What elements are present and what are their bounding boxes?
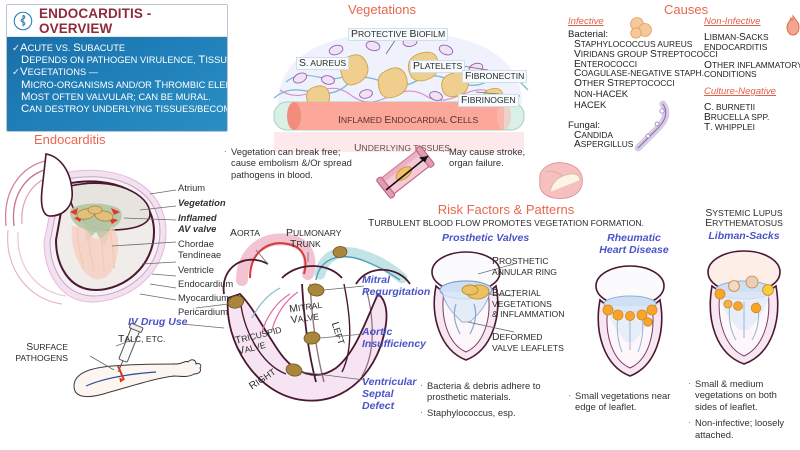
label-mitral-valve: MITRALVALVE	[289, 300, 325, 326]
banner-line: DEPENDS ON PATHOGEN VIRULENCE, TISSUE HE…	[12, 54, 221, 66]
bullet-dot: ·	[224, 146, 227, 180]
banner-line: ✓VEGETATIONS —	[12, 66, 221, 78]
label-chordae: Chordae	[178, 238, 214, 249]
callout-deformed-valve-leaflets: DEFORMEDVALVE LEAFLETS	[492, 332, 568, 353]
causes-culture-negative-column: Culture-Negative C. BURNETII BRUCELLA SP…	[704, 86, 796, 132]
page-title: ENDOCARDITIS - OVERVIEW	[39, 6, 227, 36]
bullet-dot: ·	[688, 378, 691, 412]
panel-rheumatic-heart-disease: Rheumatic Heart Disease ·	[572, 232, 696, 442]
label-surface-pathogens: SURFACEPATHOGENS	[8, 342, 68, 363]
causes-culture-negative-heading: Culture-Negative	[704, 86, 796, 97]
panel-heading-prosthetic-valves: Prosthetic Valves	[442, 232, 552, 244]
flame-icon	[784, 15, 800, 37]
bullet-item: · Staphylococcus, esp.	[420, 407, 564, 418]
banner-title-bar: ENDOCARDITIS - OVERVIEW	[7, 5, 227, 37]
cause-item: ENDOCARDITIS	[704, 43, 796, 53]
label-pulmonary-trunk: PULMONARY	[286, 228, 342, 239]
banner-body: ✓ACUTE VS. SUBACUTE DEPENDS ON PATHOGEN …	[7, 37, 227, 132]
causes-noninfective-column: Non-Infective LIBMAN-SACKS ENDOCARDITIS …	[704, 16, 796, 80]
overview-banner: ENDOCARDITIS - OVERVIEW ✓ACUTE VS. SUBAC…	[6, 4, 228, 132]
label-tendineae: Tendineae	[178, 249, 221, 260]
bullet-item: · Bacteria & debris adhere to prosthetic…	[420, 380, 564, 403]
label-vegetation: Vegetation	[178, 197, 226, 208]
banner-line: CAN DESTROY UNDERLYING TISSUES/BECOME EM…	[12, 103, 221, 115]
brain-icon	[530, 158, 586, 202]
embolism-bullet-2: · May cause stroke, organ failure.	[442, 146, 534, 169]
label-ventricle: Ventricle	[178, 264, 214, 275]
label-fibrinogen: FIBRINOGEN	[458, 94, 519, 107]
callout-prosthetic-annular-ring: PROSTHETICANNULAR RING	[492, 256, 568, 277]
endocarditis-diagram-title: Endocarditis	[34, 132, 106, 147]
staphylococcus-cocci-icon	[628, 16, 654, 42]
panel-bullets-rheumatic: · Small vegetations near edge of leaflet…	[568, 390, 688, 413]
causes-section: Causes Infective Bacterial: STAPHYLOCOCC…	[566, 2, 800, 192]
vegetations-section: Vegetations	[240, 2, 560, 144]
embolism-section: · Vegetation can break free; cause embol…	[224, 146, 564, 202]
panel-heading-sle-line2: ERYTHEMATOSUS	[688, 218, 800, 229]
label-aorta: AORTA	[230, 228, 260, 239]
causes-title: Causes	[664, 2, 708, 17]
bullet-item: · Small vegetations near edge of leaflet…	[568, 390, 688, 413]
label-talc-etc: TALC, ETC.	[118, 334, 165, 345]
blood-vessel-icon	[374, 148, 438, 198]
label-ventricular-septal-defect: VentricularSeptal Defect	[362, 376, 428, 412]
heart-chambers-diagram: AORTA PULMONARY TRUNK MitralRegurgitatio…	[216, 222, 428, 414]
banner-line: MOST OFTEN VALVULAR; CAN BE MURAL.	[12, 91, 221, 103]
label-aortic-insufficiency: AorticInsufficiency	[362, 326, 426, 350]
libman-sacks-heart-illustration	[694, 246, 798, 372]
label-inflamed-endocardial-cells: INFLAMED ENDOCARDIAL CELLS	[338, 115, 478, 126]
cause-item: CONDITIONS	[704, 70, 796, 80]
panel-prosthetic-valves: Prosthetic Valves PROSTHETICANNULAR RING	[420, 232, 566, 442]
label-s-aureus: S. AUREUS	[296, 57, 349, 70]
label-platelets: PLATELETS	[410, 60, 465, 73]
iv-drug-use-section: IV Drug Use TALC, ETC.	[70, 306, 240, 416]
panel-heading-rheumatic-line1: Rheumatic	[572, 232, 696, 244]
banner-line: MICRO-ORGANISMS AND/OR THROMBIC ELEMENTS…	[12, 79, 221, 91]
infographic-canvas: ENDOCARDITIS - OVERVIEW ✓ACUTE VS. SUBAC…	[0, 0, 800, 450]
label-pulmonary-trunk-line2: TRUNK	[290, 239, 321, 250]
panel-bullets-libman-sacks: · Small & medium vegetations on both sid…	[688, 378, 800, 440]
embolism-bullet-1: · Vegetation can break free; cause embol…	[224, 146, 364, 180]
bullet-item: · Non-infective; loosely attached.	[688, 417, 800, 440]
callout-bacterial-vegetations: BACTERIALVEGETATIONS& INFLAMMATION	[492, 288, 570, 319]
bullet-item: · Small & medium vegetations on both sid…	[688, 378, 800, 412]
banner-line: ✓ACUTE VS. SUBACUTE	[12, 42, 221, 54]
label-inflamed-av-valve-line1: Inflamed	[178, 212, 217, 223]
fungal-hyphae-icon	[632, 98, 672, 154]
panel-heading-rheumatic-line2: Heart Disease	[572, 244, 696, 256]
bullet-dot: ·	[688, 417, 691, 440]
label-atrium: Atrium	[178, 182, 205, 193]
bullet-dot: ·	[420, 407, 423, 418]
label-inflamed-av-valve-line2: AV valve	[178, 223, 216, 234]
caduceus-icon	[13, 11, 33, 31]
vegetations-title: Vegetations	[348, 2, 416, 17]
risk-title: Risk Factors & Patterns	[356, 202, 656, 217]
bullet-dot: ·	[442, 146, 445, 169]
endocarditis-diagram: Endocarditis	[0, 132, 230, 307]
panel-heading-libman-sacks: Libman-Sacks	[688, 230, 800, 242]
label-protective-biofilm: PROTECTIVE BIOFILM	[348, 28, 448, 41]
label-fibronectin: FIBRONECTIN	[462, 70, 527, 83]
panel-bullets-prosthetic: · Bacteria & debris adhere to prosthetic…	[420, 380, 564, 418]
panel-libman-sacks: SYSTEMIC LUPUS ERYTHEMATOSUS Libman-Sack…	[688, 208, 800, 444]
rheumatic-heart-illustration	[582, 260, 686, 382]
bullet-dot: ·	[420, 380, 423, 403]
cause-item: T. WHIPPLEI	[704, 123, 796, 133]
bullet-dot: ·	[568, 390, 571, 413]
causes-noninfective-heading: Non-Infective	[704, 16, 796, 27]
